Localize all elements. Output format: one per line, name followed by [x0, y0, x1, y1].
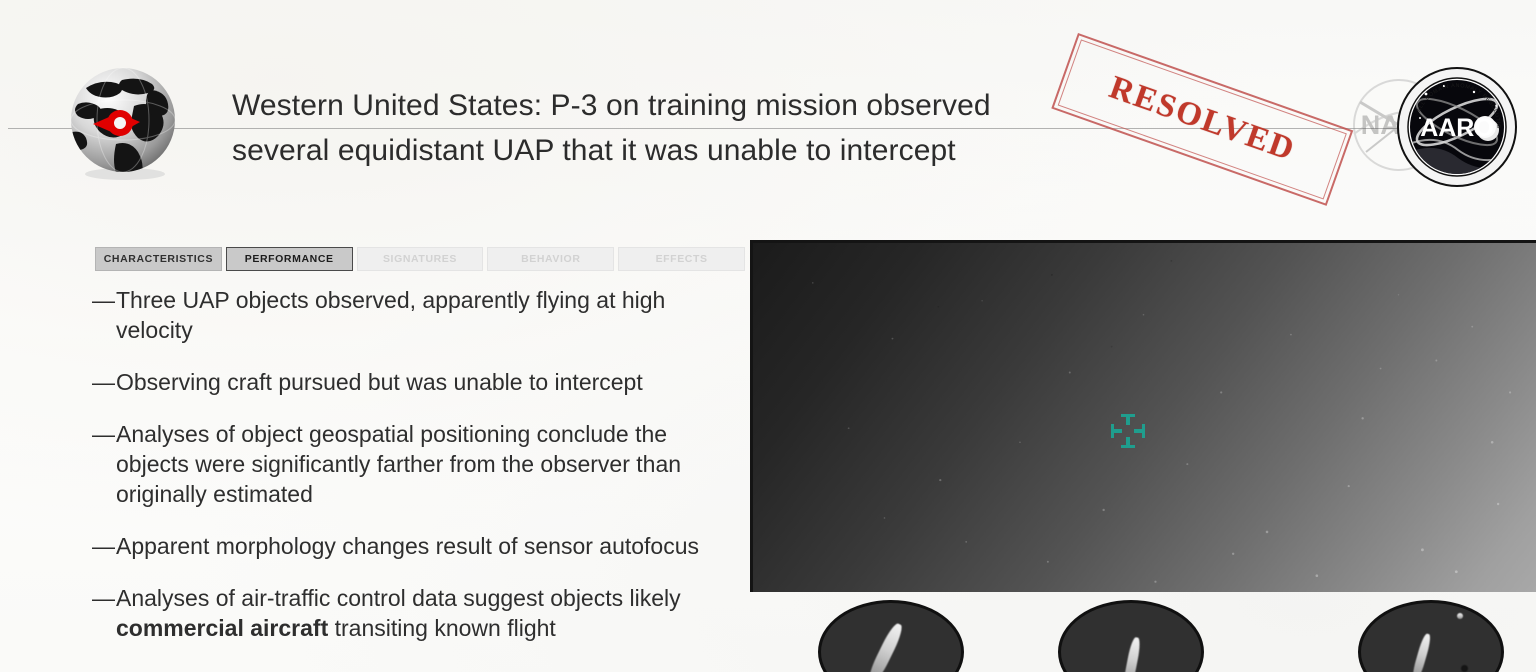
category-tabbar[interactable]: CHARACTERISTICS PERFORMANCE SIGNATURES B…: [95, 247, 745, 271]
aaro-wordmark: AARO: [1420, 114, 1494, 142]
bullet-text-rich: Analyses of air-traffic control data sug…: [116, 583, 742, 643]
list-item: — Analyses of air-traffic control data s…: [92, 583, 742, 643]
bullet-dash: —: [92, 419, 116, 449]
list-item: — Three UAP objects observed, apparently…: [92, 285, 742, 345]
tab-signatures[interactable]: SIGNATURES: [357, 247, 484, 271]
tab-performance[interactable]: PERFORMANCE: [226, 247, 353, 271]
uap-thumbnail-3[interactable]: [1358, 600, 1504, 672]
uap-speck: [1457, 613, 1463, 619]
bullet-dash: —: [92, 531, 116, 561]
tab-characteristics[interactable]: CHARACTERISTICS: [95, 247, 222, 271]
tab-behavior[interactable]: BEHAVIOR: [487, 247, 614, 271]
uap-streak: [866, 621, 906, 672]
bullet-text-bold: commercial aircraft: [116, 615, 328, 641]
targeting-crosshair-icon: [1109, 412, 1147, 450]
slide-header: Western United States: P-3 on training m…: [0, 0, 1536, 205]
slide-root: Western United States: P-3 on training m…: [0, 0, 1536, 672]
findings-list: — Three UAP objects observed, apparently…: [92, 285, 742, 665]
aaro-logo: ALL-DOMAIN ANOMALY RESOLUTION OFFICE AAR…: [1396, 66, 1518, 188]
status-badge-resolved: RESOLVED: [1051, 33, 1353, 206]
bullet-dash: —: [92, 583, 116, 613]
list-item: — Analyses of object geospatial position…: [92, 419, 742, 509]
list-item: — Apparent morphology changes result of …: [92, 531, 742, 561]
title-line-1: Western United States: P-3 on training m…: [232, 83, 1092, 128]
bullet-text: Observing craft pursued but was unable t…: [116, 367, 742, 397]
uap-thumbnail-1[interactable]: [818, 600, 964, 672]
page-title: Western United States: P-3 on training m…: [232, 83, 1092, 173]
title-line-2: several equidistant UAP that it was unab…: [232, 128, 1092, 173]
bullet-text: Apparent morphology changes result of se…: [116, 531, 742, 561]
uap-streak: [1122, 637, 1142, 672]
globe-icon: [52, 62, 194, 182]
bullet-text: Analyses of object geospatial positionin…: [116, 419, 742, 509]
list-item: — Observing craft pursued but was unable…: [92, 367, 742, 397]
bullet-dash: —: [92, 367, 116, 397]
bullet-text: Three UAP objects observed, apparently f…: [116, 285, 742, 345]
tab-effects[interactable]: EFFECTS: [618, 247, 745, 271]
bullet-text-before: Analyses of air-traffic control data sug…: [116, 585, 681, 611]
uap-speck-dark: [1461, 665, 1468, 672]
bullet-text-after: transiting known flight: [328, 615, 556, 641]
uap-streak: [1411, 633, 1433, 672]
frame-thumbnail-strip[interactable]: [750, 600, 1536, 672]
bullet-dash: —: [92, 285, 116, 315]
uap-thumbnail-2[interactable]: [1058, 600, 1204, 672]
